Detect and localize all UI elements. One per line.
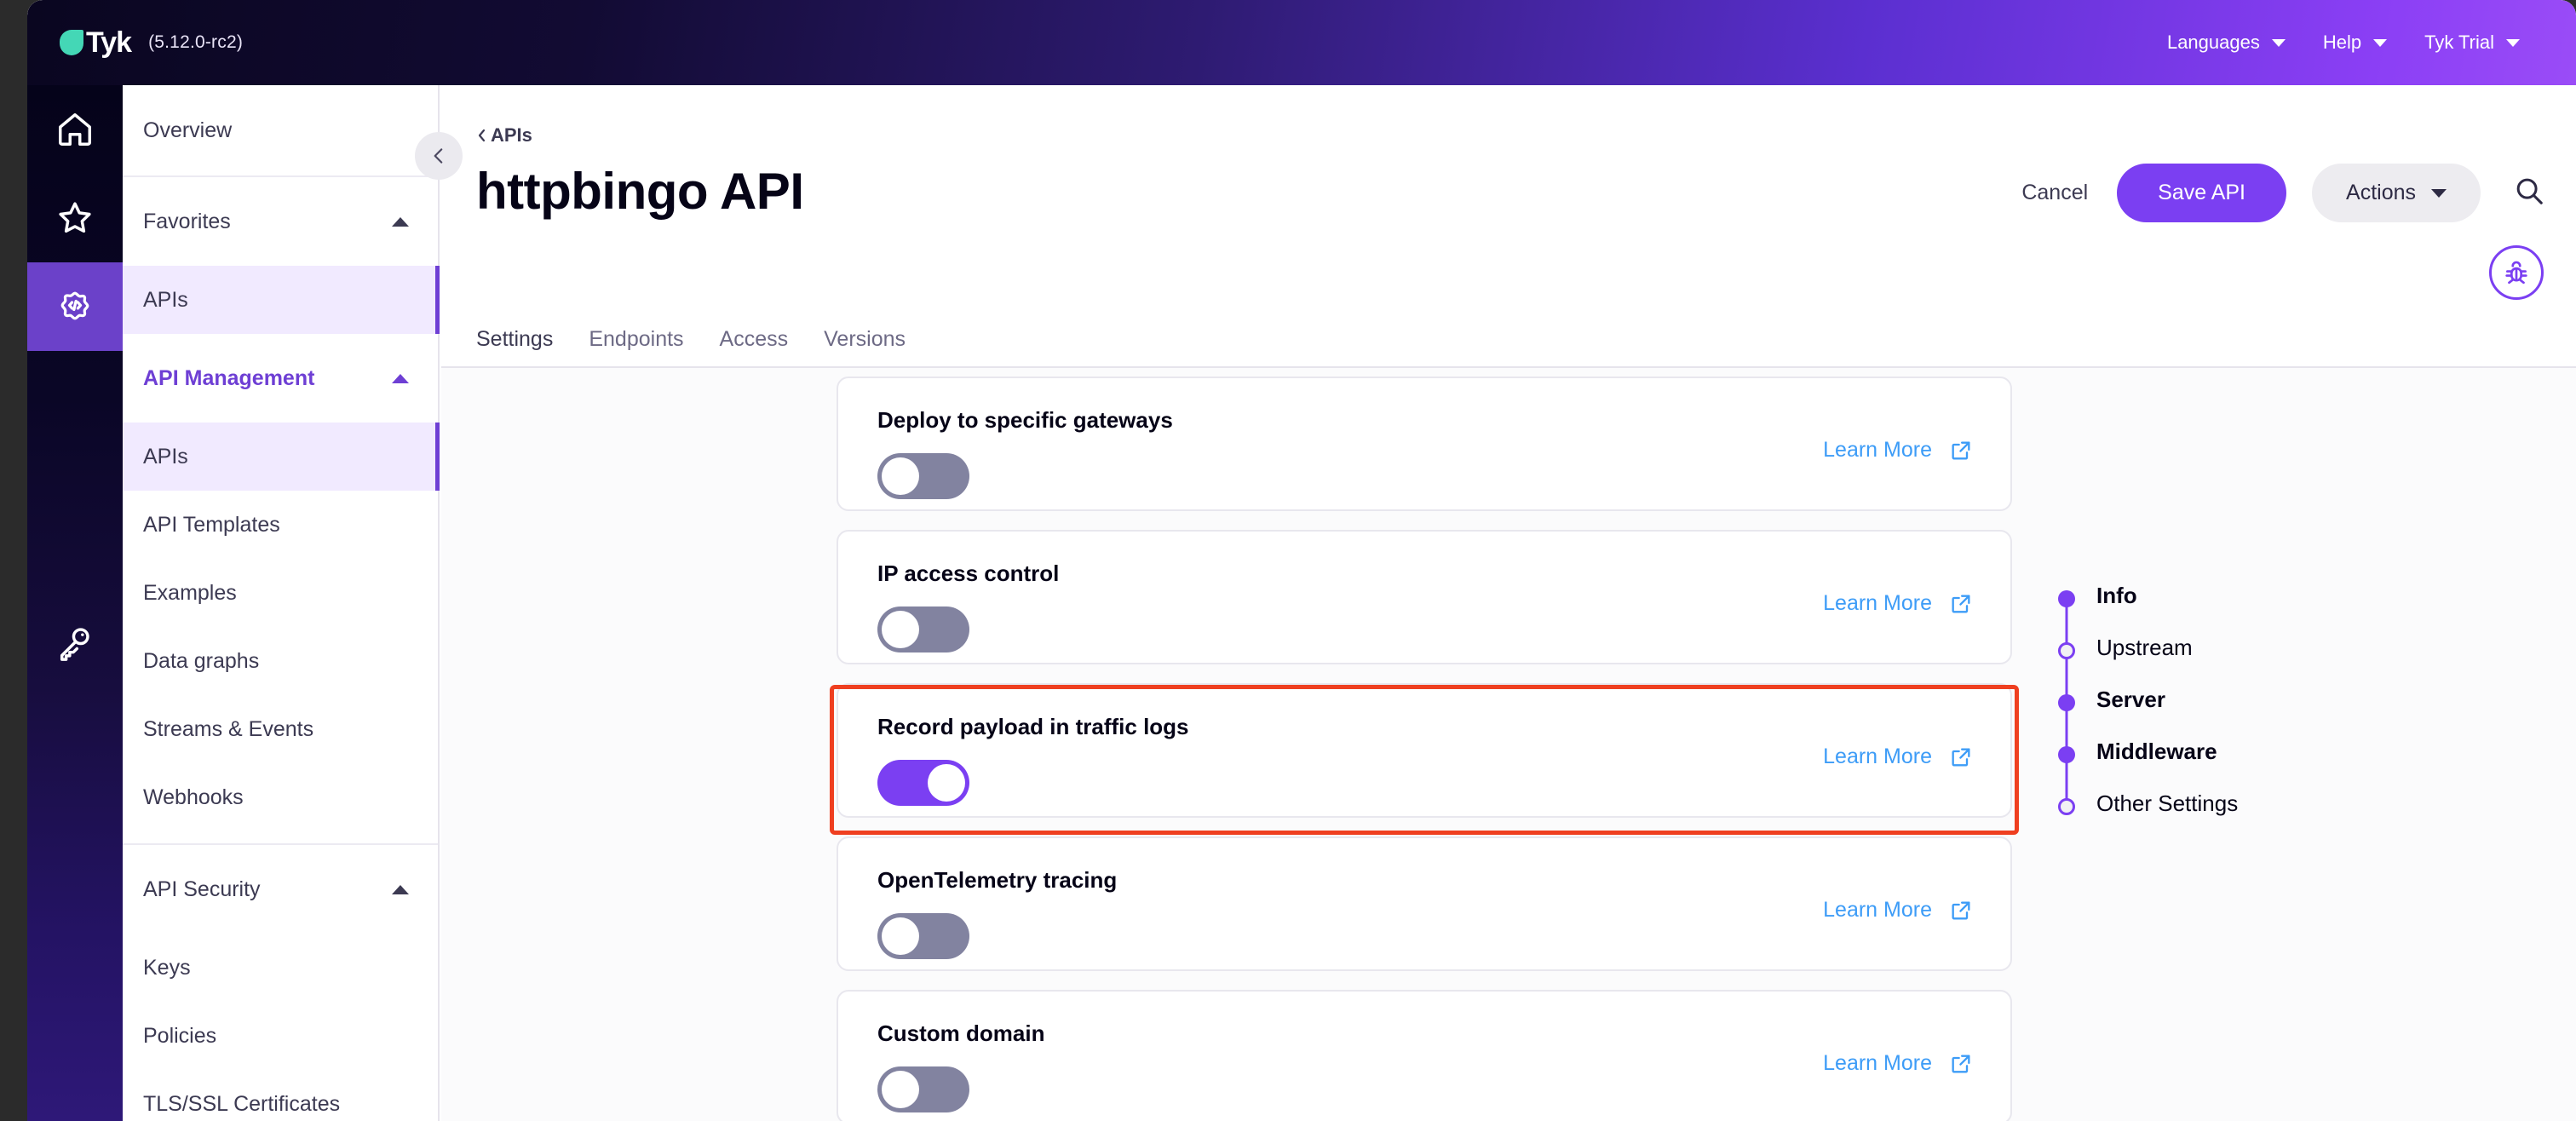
external-link-icon xyxy=(1949,1052,1973,1076)
settings-card-list: Deploy to specific gateways Learn More xyxy=(837,377,2012,1121)
stepper-dot-filled xyxy=(2058,746,2075,763)
sidebar-item-tls-ssl-certificates[interactable]: TLS/SSL Certificates xyxy=(123,1070,438,1121)
app-window: Tyk (5.12.0-rc2) Languages Help Tyk Tria… xyxy=(27,0,2576,1121)
toggle-opentelemetry-tracing[interactable] xyxy=(877,913,969,959)
sidebar-item-apis[interactable]: APIs xyxy=(123,423,438,491)
sidebar-item-label: Webhooks xyxy=(143,785,244,810)
toggle-record-payload-in-traffic-logs[interactable] xyxy=(877,760,969,806)
rail-item-api-management[interactable] xyxy=(27,262,123,351)
chevron-down-icon xyxy=(2506,39,2520,47)
sidebar-item-label: Data graphs xyxy=(143,649,259,674)
sidebar-item-label: Policies xyxy=(143,1024,216,1049)
sidebar-item-streams-events[interactable]: Streams & Events xyxy=(123,695,438,763)
learn-more-link[interactable]: Learn More xyxy=(1823,1051,1973,1076)
sidebar-group-api-management-label: API Management xyxy=(143,366,314,391)
header-actions: Cancel Save API Actions xyxy=(2018,164,2545,222)
external-link-icon xyxy=(1949,899,1973,923)
card-title: Custom domain xyxy=(877,1020,1044,1047)
rail-item-favorites[interactable] xyxy=(27,174,123,262)
card-title: OpenTelemetry tracing xyxy=(877,867,1117,894)
sidebar-item-data-graphs[interactable]: Data graphs xyxy=(123,627,438,695)
sidebar-item-label: Streams & Events xyxy=(143,717,313,742)
top-bar-menu: Languages Help Tyk Trial xyxy=(2167,32,2576,54)
learn-more-link[interactable]: Learn More xyxy=(1823,744,1973,769)
sidebar-item-overview[interactable]: Overview xyxy=(123,85,438,177)
sidebar-item-api-templates[interactable]: API Templates xyxy=(123,491,438,559)
learn-more-link[interactable]: Learn More xyxy=(1823,898,1973,923)
chevron-down-icon xyxy=(2272,39,2286,47)
menu-languages-label: Languages xyxy=(2167,32,2260,54)
card-deploy-to-specific-gateways: Deploy to specific gateways Learn More xyxy=(837,377,2012,511)
sidebar-item-label: TLS/SSL Certificates xyxy=(143,1092,340,1117)
learn-more-label: Learn More xyxy=(1823,1051,1932,1076)
sidebar-item-policies[interactable]: Policies xyxy=(123,1002,438,1070)
sidebar: Overview Favorites APIs API Management A… xyxy=(123,85,440,1121)
sidebar-item-label: APIs xyxy=(143,288,188,313)
card-title: Deploy to specific gateways xyxy=(877,407,1173,434)
toggle-custom-domain[interactable] xyxy=(877,1066,969,1112)
toggle-ip-access-control[interactable] xyxy=(877,606,969,652)
main-content: APIs httpbingo API Cancel Save API Actio… xyxy=(441,85,2576,1121)
sidebar-item-webhooks[interactable]: Webhooks xyxy=(123,763,438,831)
stepper-label: Middleware xyxy=(2096,739,2217,766)
stepper-dot-filled xyxy=(2058,590,2075,607)
card-title: IP access control xyxy=(877,560,1059,587)
actions-button-label: Actions xyxy=(2346,181,2416,205)
learn-more-label: Learn More xyxy=(1823,744,1932,769)
chevron-up-icon xyxy=(392,374,409,383)
learn-more-link[interactable]: Learn More xyxy=(1823,591,1973,616)
breadcrumb[interactable]: APIs xyxy=(476,124,532,147)
stepper-label: Upstream xyxy=(2096,635,2193,662)
sidebar-item-label: APIs xyxy=(143,445,188,469)
learn-more-label: Learn More xyxy=(1823,591,1932,616)
bug-icon xyxy=(2502,258,2531,287)
section-stepper-nav: Info Upstream Server xyxy=(2056,583,2413,842)
stepper-dot-filled xyxy=(2058,694,2075,711)
external-link-icon xyxy=(1949,439,1973,463)
chevron-down-icon xyxy=(2431,189,2447,198)
external-link-icon xyxy=(1949,592,1973,616)
stepper-item-server[interactable]: Server xyxy=(2056,687,2413,739)
toggle-knob xyxy=(928,764,965,802)
collapse-sidebar-button[interactable] xyxy=(415,132,463,180)
tyk-logo[interactable]: Tyk xyxy=(60,26,131,60)
sidebar-group-favorites[interactable]: Favorites xyxy=(123,177,438,266)
rail-item-home[interactable] xyxy=(27,85,123,174)
actions-button[interactable]: Actions xyxy=(2312,164,2481,222)
settings-canvas: Deploy to specific gateways Learn More xyxy=(441,368,2576,1121)
toggle-knob xyxy=(882,611,919,648)
sidebar-item-examples[interactable]: Examples xyxy=(123,559,438,627)
card-record-payload-in-traffic-logs: Record payload in traffic logs Learn Mor… xyxy=(837,683,2012,818)
menu-tyk-trial-label: Tyk Trial xyxy=(2424,32,2494,54)
toggle-knob xyxy=(882,457,919,495)
learn-more-link[interactable]: Learn More xyxy=(1823,438,1973,463)
icon-rail xyxy=(27,85,123,1121)
tab-settings[interactable]: Settings xyxy=(476,327,553,360)
card-custom-domain: Custom domain Learn More xyxy=(837,990,2012,1121)
sidebar-group-api-management[interactable]: API Management xyxy=(123,334,438,423)
key-icon xyxy=(55,623,95,662)
sidebar-item-keys[interactable]: Keys xyxy=(123,934,438,1002)
debug-bug-button[interactable] xyxy=(2489,245,2544,300)
menu-tyk-trial[interactable]: Tyk Trial xyxy=(2424,32,2520,54)
top-bar: Tyk (5.12.0-rc2) Languages Help Tyk Tria… xyxy=(27,0,2576,85)
menu-help[interactable]: Help xyxy=(2323,32,2387,54)
sidebar-group-favorites-label: Favorites xyxy=(143,210,231,234)
learn-more-label: Learn More xyxy=(1823,438,1932,463)
api-gear-code-icon xyxy=(55,287,95,326)
stepper-label: Other Settings xyxy=(2096,790,2238,818)
toggle-knob xyxy=(882,1071,919,1108)
search-button[interactable] xyxy=(2513,175,2545,211)
tab-bar: Settings Endpoints Access Versions xyxy=(476,327,906,360)
stepper-item-info[interactable]: Info xyxy=(2056,583,2413,635)
stepper-item-other-settings[interactable]: Other Settings xyxy=(2056,790,2413,842)
sidebar-item-label: Keys xyxy=(143,956,191,980)
stepper-item-middleware[interactable]: Middleware xyxy=(2056,739,2413,790)
chevron-down-icon xyxy=(2373,39,2387,47)
tab-access[interactable]: Access xyxy=(720,327,789,360)
version-label: (5.12.0-rc2) xyxy=(148,32,243,53)
tab-endpoints[interactable]: Endpoints xyxy=(589,327,683,360)
brand-name: Tyk xyxy=(86,26,131,60)
page-title: httpbingo API xyxy=(476,162,804,221)
sidebar-item-label: Examples xyxy=(143,581,237,606)
stepper-marker xyxy=(2056,583,2078,607)
breadcrumb-label: APIs xyxy=(491,124,532,147)
stepper-dot-hollow xyxy=(2058,798,2075,815)
rail-item-api-security[interactable] xyxy=(27,598,123,687)
brand: Tyk (5.12.0-rc2) xyxy=(27,26,243,60)
sidebar-group-api-security[interactable]: API Security xyxy=(123,845,438,934)
sidebar-item-label: API Templates xyxy=(143,513,280,538)
menu-languages[interactable]: Languages xyxy=(2167,32,2286,54)
tab-versions[interactable]: Versions xyxy=(824,327,906,360)
chevron-left-icon xyxy=(476,127,488,144)
card-title: Record payload in traffic logs xyxy=(877,714,1189,740)
chevron-left-icon xyxy=(428,145,450,167)
menu-help-label: Help xyxy=(2323,32,2361,54)
sidebar-group-api-security-label: API Security xyxy=(143,877,261,902)
toggle-deploy-to-specific-gateways[interactable] xyxy=(877,453,969,499)
card-ip-access-control: IP access control Learn More xyxy=(837,530,2012,664)
star-icon xyxy=(55,198,95,238)
external-link-icon xyxy=(1949,745,1973,769)
stepper-label: Info xyxy=(2096,583,2137,610)
chevron-up-icon xyxy=(392,217,409,227)
card-opentelemetry-tracing: OpenTelemetry tracing Learn More xyxy=(837,836,2012,971)
learn-more-label: Learn More xyxy=(1823,898,1932,923)
sidebar-overview-label: Overview xyxy=(143,118,232,143)
sidebar-item-favorites-apis[interactable]: APIs xyxy=(123,266,438,334)
chevron-up-icon xyxy=(392,885,409,894)
search-icon xyxy=(2513,175,2545,207)
cancel-button[interactable]: Cancel xyxy=(2018,174,2091,212)
stepper-label: Server xyxy=(2096,687,2165,714)
tyk-leaf-icon xyxy=(60,30,83,55)
stepper-item-upstream[interactable]: Upstream xyxy=(2056,635,2413,687)
stepper-dot-hollow xyxy=(2058,642,2075,659)
home-icon xyxy=(55,110,95,149)
toggle-knob xyxy=(882,917,919,955)
save-api-button[interactable]: Save API xyxy=(2117,164,2286,222)
